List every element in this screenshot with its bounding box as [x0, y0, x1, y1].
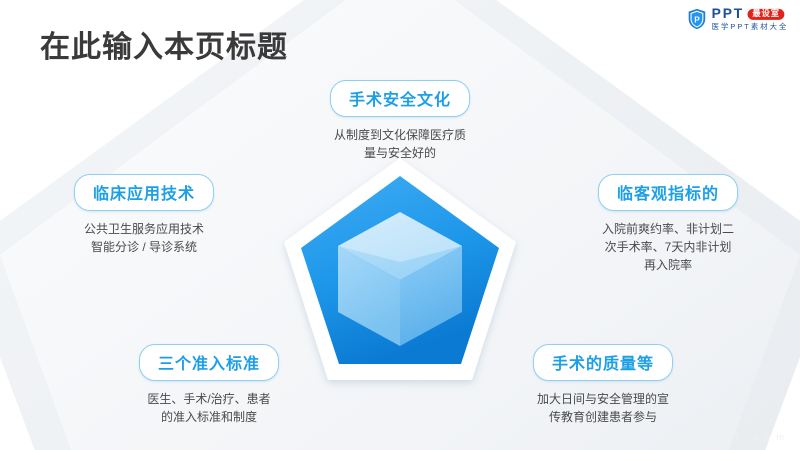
node-top[interactable]: 手术安全文化 从制度到文化保障医疗质 量与安全好的: [282, 80, 518, 162]
logo-subtitle: 医学PPT素材大全: [711, 23, 788, 30]
logo-brand: PPT: [711, 7, 743, 21]
node-left-label[interactable]: 临床应用技术: [74, 174, 214, 211]
node-top-desc: 从制度到文化保障医疗质 量与安全好的: [282, 126, 518, 162]
logo-text-block: PPT 最设室 医学PPT素材大全: [711, 7, 788, 30]
logo-badge: 最设室: [747, 8, 784, 19]
node-left-desc: 公共卫生服务应用技术 智能分诊 / 导诊系统: [28, 220, 260, 256]
page-title: 在此输入本页标题: [40, 22, 288, 66]
node-right-label[interactable]: 临客观指标的: [598, 174, 738, 211]
node-bottom-right[interactable]: 手术的质量等 加大日间与安全管理的宣 传教育创建患者参与: [478, 344, 728, 426]
node-bottom-right-desc: 加大日间与安全管理的宣 传教育创建患者参与: [478, 390, 728, 426]
node-bottom-left-label[interactable]: 三个准入标准: [139, 344, 279, 381]
brand-logo[interactable]: P PPT 最设室 医学PPT素材大全: [686, 7, 788, 30]
node-bottom-left-desc: 医生、手术/治疗、患者 的准入标准和制度: [84, 390, 334, 426]
shield-icon: P: [686, 8, 706, 30]
footer-watermark: w w w . p p t e r . c o m: [644, 432, 786, 442]
node-left[interactable]: 临床应用技术 公共卫生服务应用技术 智能分诊 / 导诊系统: [28, 174, 260, 256]
node-bottom-left[interactable]: 三个准入标准 医生、手术/治疗、患者 的准入标准和制度: [84, 344, 334, 426]
svg-text:P: P: [694, 15, 700, 24]
node-top-label[interactable]: 手术安全文化: [330, 80, 470, 117]
node-right[interactable]: 临客观指标的 入院前爽约率、非计划二 次手术率、7天内非计划 再入院率: [548, 174, 788, 274]
node-bottom-right-label[interactable]: 手术的质量等: [533, 344, 673, 381]
node-right-desc: 入院前爽约率、非计划二 次手术率、7天内非计划 再入院率: [548, 220, 788, 274]
slide-canvas: 在此输入本页标题 P PPT 最设室 医学PPT素材大全: [0, 0, 800, 450]
